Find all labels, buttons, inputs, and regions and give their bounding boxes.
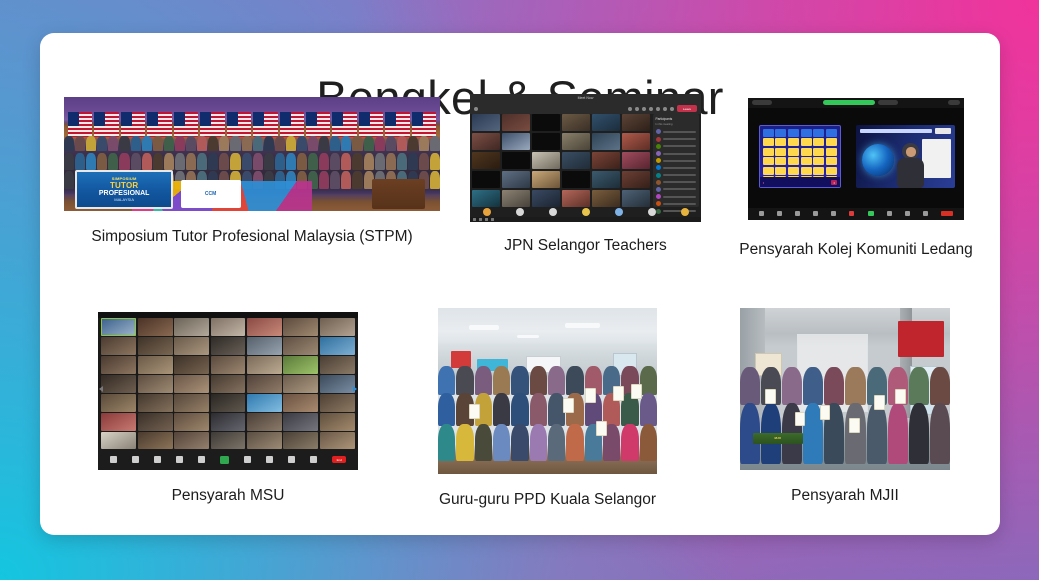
tray-icon-1[interactable] — [483, 208, 491, 216]
wall-board-red — [898, 321, 944, 357]
participant-row[interactable] — [656, 129, 696, 134]
person-decor — [286, 153, 296, 170]
person-decor — [75, 153, 85, 170]
person-decor — [186, 153, 196, 170]
person-decor — [308, 136, 318, 152]
person-decor — [430, 171, 440, 189]
certificate-decor — [469, 404, 480, 419]
person-decor — [86, 136, 96, 152]
teams-raise-hand-icon[interactable] — [642, 107, 646, 111]
participants-panel-title: Participants — [656, 117, 696, 121]
person-decor — [64, 153, 74, 170]
person-decor — [164, 136, 174, 152]
person-decor — [119, 153, 129, 170]
person-decor — [242, 153, 252, 170]
person-decor — [142, 153, 152, 170]
zoom-end-button[interactable]: End — [332, 456, 346, 463]
person-decor — [253, 136, 263, 152]
participant-row[interactable] — [656, 180, 696, 185]
ceiling-light-decor — [469, 325, 500, 330]
participant-row[interactable] — [656, 144, 696, 149]
person-decor — [230, 153, 240, 170]
participants-panel-subtitle: In this meeting — [656, 123, 696, 126]
person-decor — [375, 153, 385, 170]
teams-bottom-tray[interactable] — [470, 207, 701, 217]
thumbnail-teams-meeting[interactable]: Meet Now Leave — [470, 94, 701, 222]
teams-mic-icon[interactable] — [663, 107, 667, 111]
teams-leave-label: Leave — [683, 107, 691, 111]
person-decor — [75, 136, 85, 152]
person-decor — [375, 136, 385, 152]
mjii-banner: MJII — [753, 433, 803, 444]
zoom-video-icon[interactable] — [777, 211, 782, 216]
certificate-decor — [631, 384, 642, 399]
malaysian-flags-decor — [68, 112, 437, 137]
participant-row[interactable] — [656, 173, 696, 178]
zoom-reactions-icon[interactable] — [905, 211, 910, 216]
thumbnail-zoom-screen-share[interactable]: • • — [748, 98, 964, 220]
thumbnail-auditorium-group-photo[interactable]: SIMPOSIUM TUTOR PROFESIONAL MALAYSIA CCM — [64, 97, 440, 211]
teams-title-bar: Meet Now — [470, 94, 701, 103]
participant-row[interactable] — [656, 137, 696, 142]
thumbnail-mjii-group-photo[interactable]: MJII — [740, 308, 950, 470]
person-decor — [230, 136, 240, 152]
person-decor — [286, 136, 296, 152]
person-decor — [131, 153, 141, 170]
taskbar-item[interactable] — [485, 218, 488, 221]
teams-camera-icon[interactable] — [656, 107, 660, 111]
certificate-decor — [895, 389, 906, 404]
person-decor — [108, 136, 118, 152]
person-decor — [408, 136, 418, 152]
person-decor — [319, 171, 329, 189]
person-decor — [341, 136, 351, 152]
participant-row[interactable] — [656, 187, 696, 192]
person-decor — [186, 136, 196, 152]
zoom-more-icon[interactable] — [310, 456, 317, 463]
quiz-brand-logo: • — [763, 180, 764, 185]
person-decor — [175, 153, 185, 170]
gallery-item-kk-ledang[interactable]: • • — [748, 98, 964, 258]
person-decor — [242, 136, 252, 152]
tray-icon-3[interactable] — [549, 208, 557, 216]
zoom-share-screen-icon[interactable] — [220, 456, 229, 464]
person-decor — [253, 153, 263, 170]
participant-row[interactable] — [656, 165, 696, 170]
ccm-logo-text: CCM — [205, 191, 216, 197]
teams-back-icon[interactable] — [474, 107, 478, 111]
gallery-item-stpm[interactable]: SIMPOSIUM TUTOR PROFESIONAL MALAYSIA CCM… — [64, 97, 440, 257]
gallery-item-msu[interactable]: End Pensyarah MSU — [98, 312, 358, 502]
person-decor — [408, 153, 418, 170]
person-decor — [164, 153, 174, 170]
zoom-participant-grid — [101, 318, 355, 449]
person-decor — [108, 153, 118, 170]
person-decor — [319, 153, 329, 170]
person-decor — [297, 136, 307, 152]
zoom-share-toolbar[interactable] — [748, 208, 964, 220]
person-decor — [97, 153, 107, 170]
certificate-decor — [820, 405, 831, 420]
presentation-header — [860, 127, 951, 135]
zoom-breakout-icon[interactable] — [887, 211, 892, 216]
windows-taskbar[interactable] — [470, 217, 701, 222]
stop-share-button[interactable] — [878, 100, 898, 105]
presentation-white-panel — [922, 139, 952, 178]
zoom-reactions-icon[interactable] — [288, 456, 295, 463]
participant-row[interactable] — [656, 194, 696, 199]
zoom-participants-icon[interactable] — [176, 456, 183, 463]
ccm-logo-board: CCM — [181, 180, 241, 207]
tray-icon-2[interactable] — [516, 208, 524, 216]
view-options-button[interactable] — [948, 100, 960, 105]
person-decor — [341, 171, 351, 189]
teams-toolbar[interactable]: Leave — [470, 103, 701, 115]
person-decor — [275, 153, 285, 170]
presenter-video-pane — [856, 125, 955, 188]
person-decor — [142, 136, 152, 152]
person-decor — [308, 153, 318, 170]
person-decor — [297, 153, 307, 170]
taskbar-item[interactable] — [479, 218, 482, 221]
zoom-share-topbar — [748, 98, 964, 108]
certificate-decor — [613, 386, 624, 401]
zoom-security-icon[interactable] — [154, 456, 161, 463]
certificate-decor — [585, 388, 596, 403]
screen-sharing-indicator — [823, 100, 875, 105]
zoom-record-icon[interactable] — [244, 456, 251, 463]
person-decor — [208, 136, 218, 152]
person-decor — [364, 136, 374, 152]
participant-row[interactable] — [656, 158, 696, 163]
person-decor — [419, 136, 429, 152]
person-decor — [397, 153, 407, 170]
person-decor — [397, 136, 407, 152]
mjii-banner-text: MJII — [774, 436, 781, 440]
person-decor — [86, 153, 96, 170]
person-decor — [197, 136, 207, 152]
participant-row[interactable] — [656, 201, 696, 206]
gallery-caption-ppd-kuala-selangor: Guru-guru PPD Kuala Selangor — [439, 492, 656, 508]
person-decor — [430, 153, 440, 170]
zoom-security-icon[interactable] — [795, 211, 800, 216]
teams-more-icon[interactable] — [649, 107, 653, 111]
banner-line-4: MALAYSIA — [114, 197, 134, 202]
participant-row[interactable] — [656, 151, 696, 156]
person-decor — [352, 136, 362, 152]
zoom-chat-icon[interactable] — [831, 211, 836, 216]
person-decor — [341, 153, 351, 170]
zoom-meeting-id-pill — [752, 100, 772, 105]
zoom-gallery-toolbar[interactable]: End — [98, 449, 358, 470]
tray-icon-7[interactable] — [681, 208, 689, 216]
gallery-item-jpn-selangor[interactable]: Meet Now Leave — [470, 94, 701, 257]
certificate-decor — [849, 418, 860, 433]
taskbar-item[interactable] — [491, 218, 494, 221]
tray-icon-4[interactable] — [582, 208, 590, 216]
gallery-caption-jpn-selangor: JPN Selangor Teachers — [504, 238, 667, 254]
gallery-item-ppd-kuala-selangor[interactable]: Guru-guru PPD Kuala Selangor — [438, 308, 657, 504]
person-decor — [364, 153, 374, 170]
certificate-decor — [563, 398, 574, 413]
person-decor — [153, 153, 163, 170]
banner-line-2: TUTOR — [110, 181, 138, 190]
zoom-mute-icon[interactable] — [110, 456, 117, 463]
podium-decor — [372, 179, 425, 209]
person-decor — [419, 153, 429, 170]
person-decor — [330, 171, 340, 189]
person-decor — [275, 136, 285, 152]
zoom-video-icon[interactable] — [132, 456, 139, 463]
zoom-more-icon[interactable] — [923, 211, 928, 216]
teams-window-title: Meet Now — [578, 96, 594, 100]
zoom-end-label: End — [337, 458, 342, 462]
person-decor — [219, 153, 229, 170]
presentation-title-bar — [860, 129, 932, 133]
teams-video-grid — [472, 114, 650, 206]
person-decor — [175, 136, 185, 152]
teams-people-icon[interactable] — [635, 107, 639, 111]
zoom-chat-icon[interactable] — [198, 456, 205, 463]
person-decor — [330, 136, 340, 152]
crowd-decor — [740, 363, 950, 463]
gallery-caption-kk-ledang: Pensyarah Kolej Komuniti Ledang — [739, 242, 973, 258]
taskbar-item[interactable] — [473, 218, 476, 221]
stpm-banner: SIMPOSIUM TUTOR PROFESIONAL MALAYSIA — [75, 170, 173, 209]
presenter-figure — [896, 143, 926, 189]
globe-graphic-icon — [862, 144, 894, 176]
person-decor — [119, 136, 129, 152]
certificate-decor — [765, 389, 776, 404]
person-decor — [197, 153, 207, 170]
zoom-mute-icon[interactable] — [759, 211, 764, 216]
thumbnail-zoom-gallery-view[interactable]: End — [98, 312, 358, 470]
quiz-score-badge: • — [831, 180, 836, 185]
teams-leave-button[interactable]: Leave — [677, 105, 697, 112]
slide-card: Bengkel & Seminar SIMPOSIUM TUTOR PROFES… — [40, 33, 1000, 535]
tray-icon-5[interactable] — [615, 208, 623, 216]
person-decor — [219, 136, 229, 152]
person-decor — [386, 153, 396, 170]
zoom-breakout-icon[interactable] — [266, 456, 273, 463]
person-decor — [208, 153, 218, 170]
banner-line-3: PROFESIONAL — [99, 190, 150, 197]
gallery-item-mjii[interactable]: MJII Pensyarah MJII — [740, 308, 950, 502]
person-decor — [131, 136, 141, 152]
ceiling-light-decor — [565, 323, 600, 328]
person-decor — [352, 153, 362, 170]
person-decor — [386, 136, 396, 152]
zoom-record-icon[interactable] — [849, 211, 854, 216]
tray-icon-6[interactable] — [648, 208, 656, 216]
zoom-participants-icon[interactable] — [813, 211, 818, 216]
person-decor — [64, 136, 74, 152]
gallery-caption-stpm: Simposium Tutor Profesional Malaysia (ST… — [91, 229, 412, 245]
person-decor — [64, 171, 74, 189]
teams-participants-panel[interactable]: Participants In this meeting — [653, 114, 699, 206]
person-decor — [330, 153, 340, 170]
thumbnail-ppd-group-photo[interactable] — [438, 308, 657, 474]
quiz-board: • • — [759, 125, 841, 188]
certificate-decor — [874, 395, 885, 410]
person-decor — [97, 136, 107, 152]
teams-share-icon[interactable] — [670, 107, 674, 111]
gallery-caption-msu: Pensyarah MSU — [172, 488, 285, 504]
person-decor — [430, 136, 440, 152]
person-decor — [319, 136, 329, 152]
person-decor — [352, 171, 362, 189]
presentation-logo — [935, 128, 951, 134]
zoom-end-button[interactable] — [941, 211, 953, 216]
ceiling-light-decor — [517, 335, 539, 338]
gallery-caption-mjii: Pensyarah MJII — [791, 488, 899, 504]
person-decor — [264, 153, 274, 170]
certificate-decor — [795, 412, 806, 427]
quiz-board-footer: • • — [760, 177, 840, 187]
zoom-share-screen-icon[interactable] — [868, 211, 874, 216]
teams-chat-icon[interactable] — [628, 107, 632, 111]
certificate-decor — [596, 421, 607, 436]
gallery-prev-page-icon[interactable] — [99, 386, 103, 392]
person-decor — [153, 136, 163, 152]
gallery-next-page-icon[interactable] — [353, 386, 357, 392]
person-decor — [264, 136, 274, 152]
